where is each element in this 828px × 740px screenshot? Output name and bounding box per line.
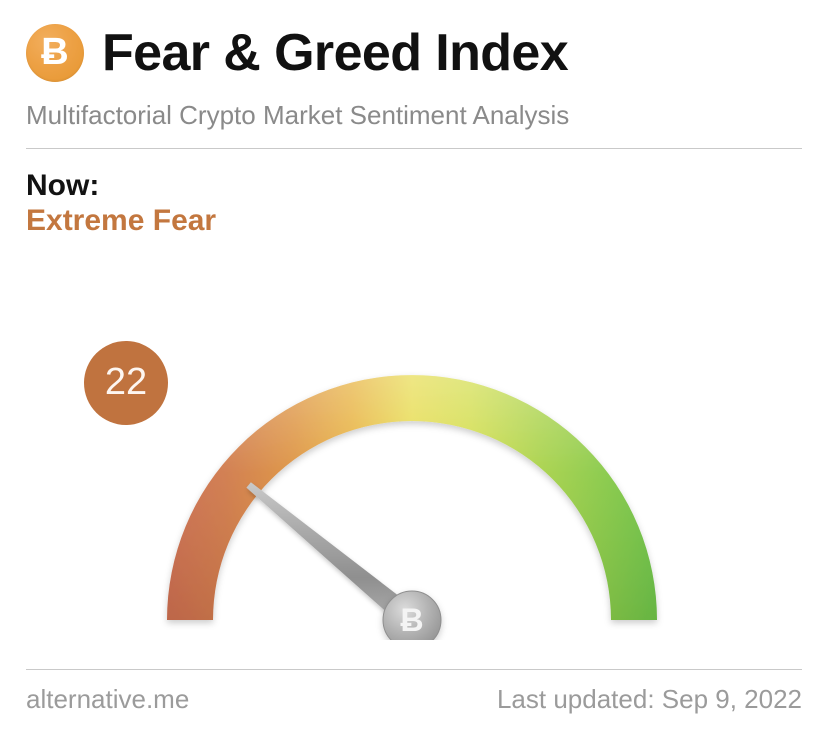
bitcoin-icon: Ƀ: [26, 24, 84, 82]
footer-last-updated: Last updated: Sep 9, 2022: [497, 686, 802, 712]
gauge-arc-group: [167, 375, 657, 620]
index-value-badge: 22: [84, 341, 168, 425]
header: Ƀ Fear & Greed Index Multifactorial Cryp…: [26, 18, 802, 138]
header-divider: [26, 148, 802, 149]
footer-source[interactable]: alternative.me: [26, 686, 189, 712]
gauge-chart: Ƀ: [0, 240, 828, 640]
gauge-svg: Ƀ: [0, 240, 828, 640]
footer: alternative.me Last updated: Sep 9, 2022: [26, 686, 802, 712]
status-sentiment-label: Extreme Fear: [26, 203, 216, 238]
gauge-hub-bitcoin-icon: Ƀ: [400, 602, 423, 638]
footer-divider: [26, 669, 802, 670]
fear-greed-index-page: Ƀ Fear & Greed Index Multifactorial Cryp…: [0, 0, 828, 740]
page-title: Fear & Greed Index: [102, 27, 568, 79]
bitcoin-glyph: Ƀ: [41, 33, 68, 71]
index-value: 22: [105, 363, 147, 401]
title-row: Ƀ Fear & Greed Index: [26, 18, 802, 88]
page-subtitle: Multifactorial Crypto Market Sentiment A…: [26, 102, 802, 128]
gauge-arc-shading: [167, 375, 657, 620]
status-now-label: Now:: [26, 168, 216, 203]
status-block: Now: Extreme Fear: [26, 168, 216, 239]
